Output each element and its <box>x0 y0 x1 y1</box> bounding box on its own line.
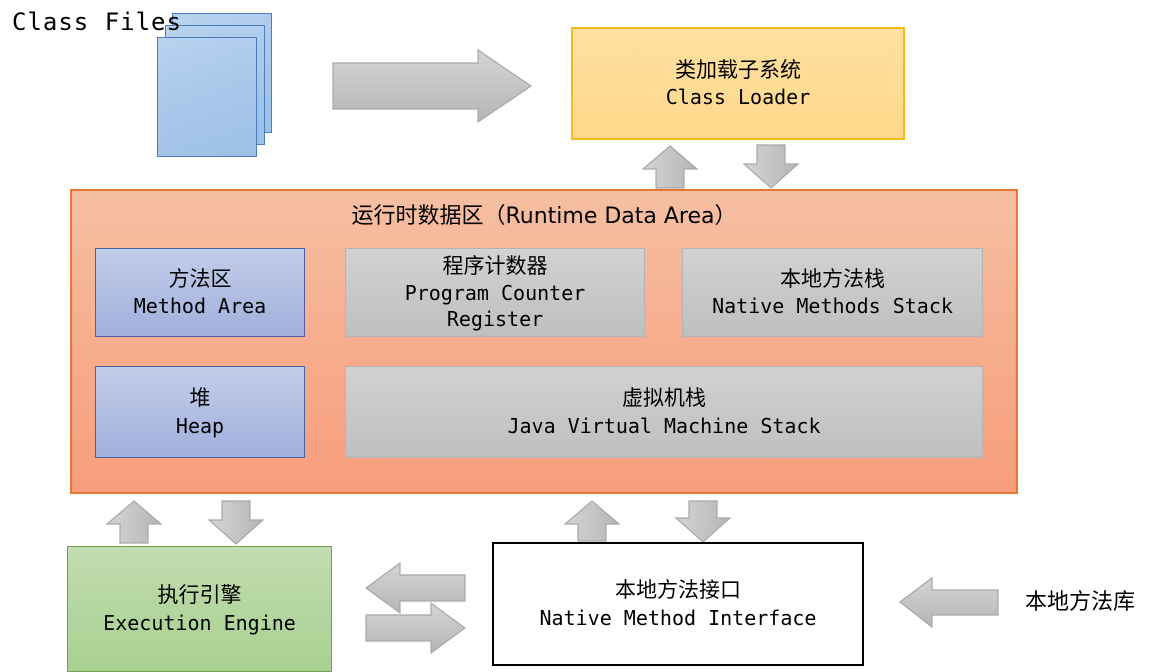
execution-engine-label-cn: 执行引擎 <box>158 582 242 609</box>
arrow-class-files-to-class-loader <box>333 50 531 122</box>
heap-box[interactable]: 堆 Heap <box>95 366 305 458</box>
method-area-box[interactable]: 方法区 Method Area <box>95 248 305 337</box>
method-area-label-en: Method Area <box>134 293 266 319</box>
execution-engine-box[interactable]: 执行引擎 Execution Engine <box>67 546 332 672</box>
arrow-native-library-to-native-interface <box>900 578 998 627</box>
class-loader-label-cn: 类加载子系统 <box>675 57 801 84</box>
jvm-stack-label-cn: 虚拟机栈 <box>622 385 706 412</box>
program-counter-label-cn: 程序计数器 <box>443 253 548 280</box>
arrow-execution-engine-to-native-interface <box>366 603 465 653</box>
heap-label-cn: 堆 <box>190 385 211 412</box>
class-files-label: Class Files <box>12 8 182 36</box>
arrow-runtime-area-to-native-interface <box>676 501 730 542</box>
execution-engine-label-en: Execution Engine <box>103 610 296 636</box>
native-methods-stack-box[interactable]: 本地方法栈 Native Methods Stack <box>682 248 983 337</box>
arrow-class-loader-to-runtime-area <box>744 145 798 188</box>
jvm-stack-label-en: Java Virtual Machine Stack <box>507 413 820 439</box>
runtime-data-area-title: 运行时数据区（Runtime Data Area） <box>70 198 1018 230</box>
class-loader-box[interactable]: 类加载子系统 Class Loader <box>571 27 905 140</box>
java-virtual-machine-stack-box[interactable]: 虚拟机栈 Java Virtual Machine Stack <box>345 366 983 458</box>
program-counter-label-en2: Register <box>447 306 543 332</box>
native-library-label: 本地方法库 <box>1025 584 1135 616</box>
method-area-label-cn: 方法区 <box>169 266 232 293</box>
arrow-native-interface-to-runtime-area <box>565 501 619 541</box>
native-method-interface-label-en: Native Method Interface <box>540 605 817 631</box>
arrow-runtime-area-to-class-loader <box>643 146 697 188</box>
program-counter-label-en: Program Counter <box>405 280 586 306</box>
arrow-runtime-area-to-execution-engine <box>209 501 263 544</box>
native-method-interface-box[interactable]: 本地方法接口 Native Method Interface <box>492 542 864 666</box>
class-loader-label-en: Class Loader <box>666 84 811 110</box>
arrow-native-interface-to-execution-engine <box>366 563 465 613</box>
heap-label-en: Heap <box>176 413 224 439</box>
class-file-sheet-front <box>157 37 257 157</box>
native-methods-stack-label-cn: 本地方法栈 <box>780 266 885 293</box>
native-methods-stack-label-en: Native Methods Stack <box>712 293 953 319</box>
program-counter-register-box[interactable]: 程序计数器 Program Counter Register <box>345 248 645 337</box>
native-method-interface-label-cn: 本地方法接口 <box>615 577 741 604</box>
arrow-execution-engine-to-runtime-area <box>107 501 161 543</box>
